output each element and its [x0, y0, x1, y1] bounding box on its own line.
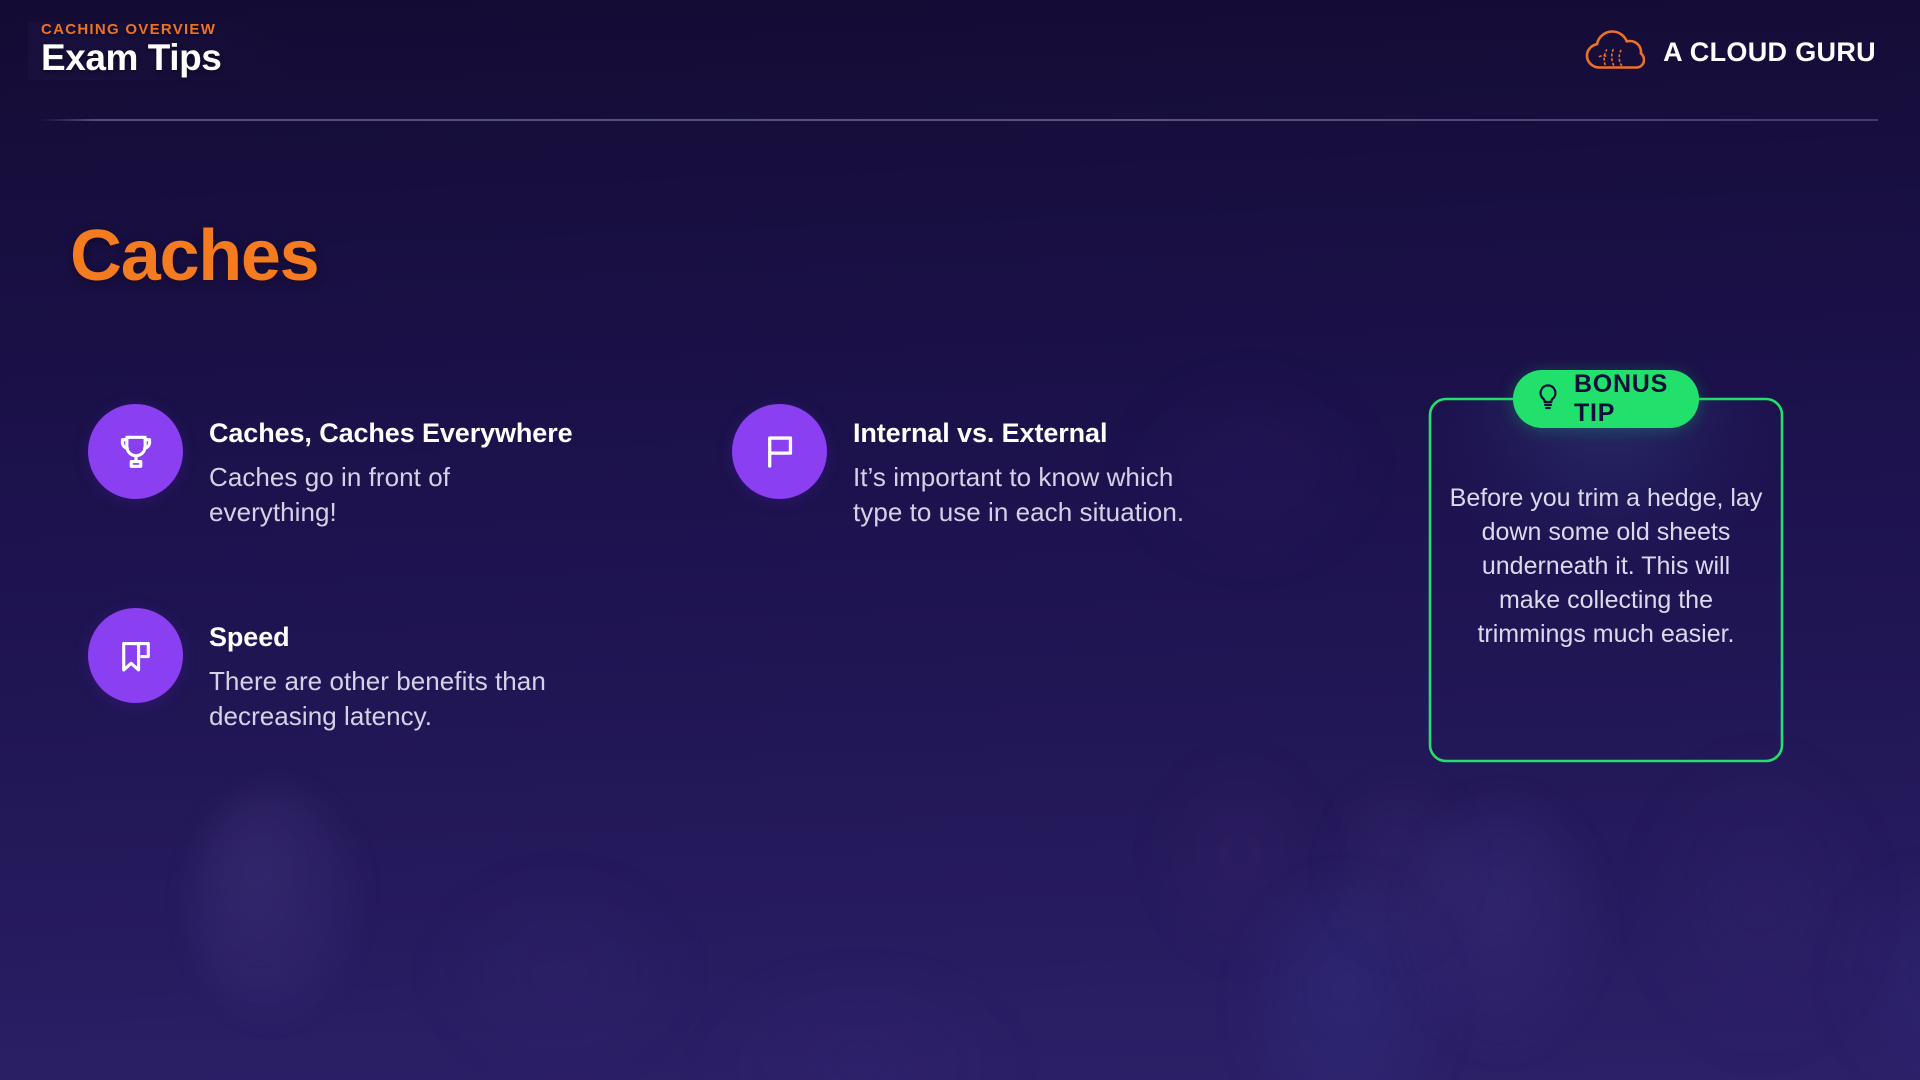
feature-title: Caches, Caches Everywhere: [209, 418, 573, 449]
lightbulb-icon: [1535, 382, 1561, 417]
feature-description: Caches go in front of everything!: [209, 460, 573, 530]
feature-item: Caches, Caches Everywhere Caches go in f…: [88, 404, 558, 530]
feature-text: Caches, Caches Everywhere Caches go in f…: [209, 404, 573, 530]
flag-icon: [732, 404, 827, 499]
feature-description: It’s important to know which type to use…: [853, 460, 1202, 530]
bonus-tip-badge: BONUS TIP: [1513, 370, 1699, 428]
feature-text: Internal vs. External It’s important to …: [853, 404, 1202, 530]
trophy-icon: [88, 404, 183, 499]
feature-item: Internal vs. External It’s important to …: [732, 404, 1202, 530]
bookmarks-icon: [88, 608, 183, 703]
feature-title: Internal vs. External: [853, 418, 1202, 449]
feature-description: There are other benefits than decreasing…: [209, 664, 558, 734]
feature-item: Speed There are other benefits than decr…: [88, 608, 558, 734]
slide-root: CACHING OVERVIEW Exam Tips A CLOUD GURU …: [0, 0, 1920, 1080]
feature-text: Speed There are other benefits than decr…: [209, 608, 558, 734]
feature-title: Speed: [209, 622, 558, 653]
bonus-tip-card: BONUS TIP Before you trim a hedge, lay d…: [1420, 389, 1792, 771]
bonus-tip-text: Before you trim a hedge, lay down some o…: [1448, 481, 1764, 651]
bonus-tip-badge-label: BONUS TIP: [1574, 370, 1671, 428]
